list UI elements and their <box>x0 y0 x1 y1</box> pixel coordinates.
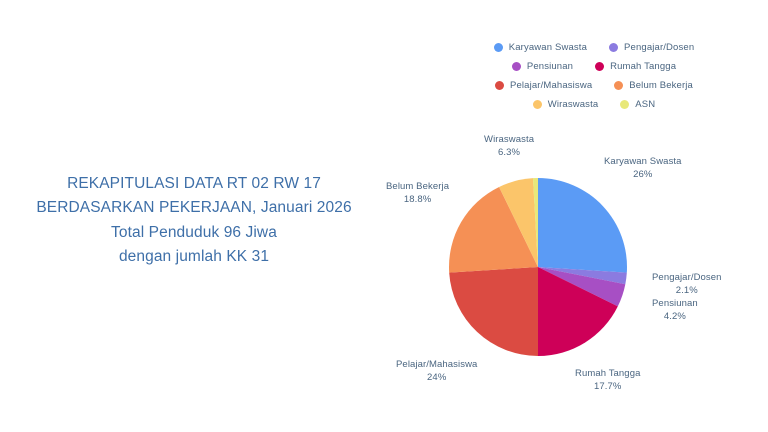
pie-label-name: Pensiunan <box>652 298 698 309</box>
legend-item-label: Wiraswasta <box>548 99 599 110</box>
pie-slice-karyawan-swasta[interactable] <box>538 178 627 273</box>
legend-swatch-icon <box>533 100 542 109</box>
pie-label-rumah-tangga: Rumah Tangga 17.7% <box>575 368 640 393</box>
legend-swatch-icon <box>609 43 618 52</box>
pie-label-name: Karyawan Swasta <box>604 156 682 167</box>
legend-swatch-icon <box>512 62 521 71</box>
title-line-2: BERDASARKAN PEKERJAAN, Januari 2026 <box>0 196 388 220</box>
pie-label-pensiunan: Pensiunan 4.2% <box>652 298 698 323</box>
pie-label-pelajar-mahasiswa: Pelajar/Mahasiswa 24% <box>396 359 477 384</box>
legend-item-label: Pelajar/Mahasiswa <box>510 80 592 91</box>
pie-label-name: Rumah Tangga <box>575 368 640 379</box>
pie-label-name: Wiraswasta <box>484 134 534 145</box>
pie-label-belum-bekerja: Belum Bekerja 18.8% <box>386 181 449 206</box>
pie-chart[interactable] <box>448 177 628 357</box>
legend-item-karyawan-swasta[interactable]: Karyawan Swasta <box>494 42 587 53</box>
legend-item-asn[interactable]: ASN <box>620 99 655 110</box>
pie-label-name: Belum Bekerja <box>386 181 449 192</box>
pie-label-value: 18.8% <box>386 194 449 207</box>
legend-swatch-icon <box>620 100 629 109</box>
legend-item-label: Pengajar/Dosen <box>624 42 694 53</box>
title-line-3: Total Penduduk 96 Jiwa <box>0 221 388 245</box>
chart-legend: Karyawan Swasta Pengajar/Dosen Pensiunan… <box>424 42 764 118</box>
pie-chart-svg <box>448 177 628 357</box>
legend-row: Pensiunan Rumah Tangga <box>424 61 764 72</box>
legend-swatch-icon <box>595 62 604 71</box>
legend-item-label: ASN <box>635 99 655 110</box>
legend-row: Pelajar/Mahasiswa Belum Bekerja <box>424 80 764 91</box>
title-line-1: REKAPITULASI DATA RT 02 RW 17 <box>0 172 388 196</box>
legend-item-label: Karyawan Swasta <box>509 42 587 53</box>
legend-item-rumah-tangga[interactable]: Rumah Tangga <box>595 61 676 72</box>
legend-item-label: Pensiunan <box>527 61 573 72</box>
slide-canvas: REKAPITULASI DATA RT 02 RW 17 BERDASARKA… <box>0 0 768 432</box>
pie-label-value: 26% <box>604 169 682 182</box>
legend-item-pensiunan[interactable]: Pensiunan <box>512 61 573 72</box>
pie-label-value: 17.7% <box>575 381 640 394</box>
pie-label-value: 6.3% <box>484 147 534 160</box>
pie-slice-pelajar-mahasiswa[interactable] <box>449 267 538 356</box>
pie-label-value: 2.1% <box>652 285 722 298</box>
pie-label-name: Pelajar/Mahasiswa <box>396 359 477 370</box>
pie-label-value: 24% <box>396 372 477 385</box>
pie-label-pengajar-dosen: Pengajar/Dosen 2.1% <box>652 272 722 297</box>
legend-item-pelajar-mahasiswa[interactable]: Pelajar/Mahasiswa <box>495 80 592 91</box>
pie-label-karyawan-swasta: Karyawan Swasta 26% <box>604 156 682 181</box>
legend-swatch-icon <box>495 81 504 90</box>
legend-item-label: Rumah Tangga <box>610 61 676 72</box>
legend-row: Wiraswasta ASN <box>424 99 764 110</box>
title-line-4: dengan jumlah KK 31 <box>0 245 388 269</box>
legend-item-pengajar-dosen[interactable]: Pengajar/Dosen <box>609 42 694 53</box>
pie-label-value: 4.2% <box>652 311 698 324</box>
legend-swatch-icon <box>614 81 623 90</box>
page-title: REKAPITULASI DATA RT 02 RW 17 BERDASARKA… <box>0 172 388 270</box>
pie-label-name: Pengajar/Dosen <box>652 272 722 283</box>
pie-label-wiraswasta: Wiraswasta 6.3% <box>484 134 534 159</box>
legend-swatch-icon <box>494 43 503 52</box>
legend-item-belum-bekerja[interactable]: Belum Bekerja <box>614 80 693 91</box>
legend-item-label: Belum Bekerja <box>629 80 693 91</box>
legend-row: Karyawan Swasta Pengajar/Dosen <box>424 42 764 53</box>
legend-item-wiraswasta[interactable]: Wiraswasta <box>533 99 599 110</box>
